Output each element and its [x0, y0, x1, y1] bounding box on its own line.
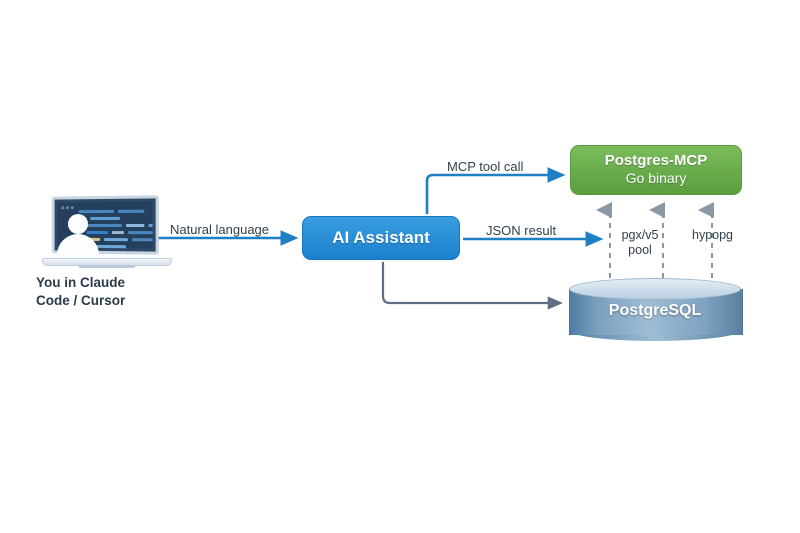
laptop-user-icon — [42, 196, 172, 268]
postgres-mcp-subtitle: Go binary — [626, 170, 687, 187]
code-line — [118, 210, 144, 213]
edge-mcp-tool-call — [427, 175, 562, 214]
postgres-mcp-title: Postgres-MCP — [605, 153, 708, 170]
edge-label-mcp-tool-call: MCP tool call — [447, 159, 523, 174]
cylinder-top — [569, 278, 741, 300]
ai-assistant-node[interactable]: AI Assistant — [302, 216, 460, 260]
code-line — [132, 238, 152, 241]
user-avatar-icon — [56, 214, 100, 258]
edge-direct-db — [383, 262, 560, 303]
edge-label-natural-language: Natural language — [170, 222, 269, 237]
dashed-label-pgx-pool: pgx/v5 pool — [612, 228, 668, 258]
avatar-body — [57, 234, 99, 258]
code-line — [148, 224, 152, 227]
code-line — [126, 224, 144, 227]
ai-assistant-label: AI Assistant — [332, 228, 430, 248]
window-dots-icon — [61, 206, 73, 209]
client-caption: You in Claude Code / Cursor — [36, 274, 216, 310]
dashed-label-hypopg: hypopg — [692, 228, 754, 243]
code-line — [104, 238, 128, 241]
edge-label-json-result: JSON result — [486, 223, 556, 238]
laptop-foot — [78, 265, 136, 268]
code-line — [79, 210, 114, 213]
code-lines — [57, 202, 152, 203]
code-line — [112, 231, 124, 234]
code-line — [128, 231, 153, 234]
avatar-head — [68, 214, 88, 234]
diagram-canvas: You in Claude Code / Cursor AI Assistant… — [0, 0, 800, 533]
postgresql-database-node[interactable]: PostgreSQL — [569, 278, 741, 341]
postgres-mcp-node[interactable]: Postgres-MCP Go binary — [570, 145, 742, 195]
postgresql-label: PostgreSQL — [569, 302, 741, 320]
